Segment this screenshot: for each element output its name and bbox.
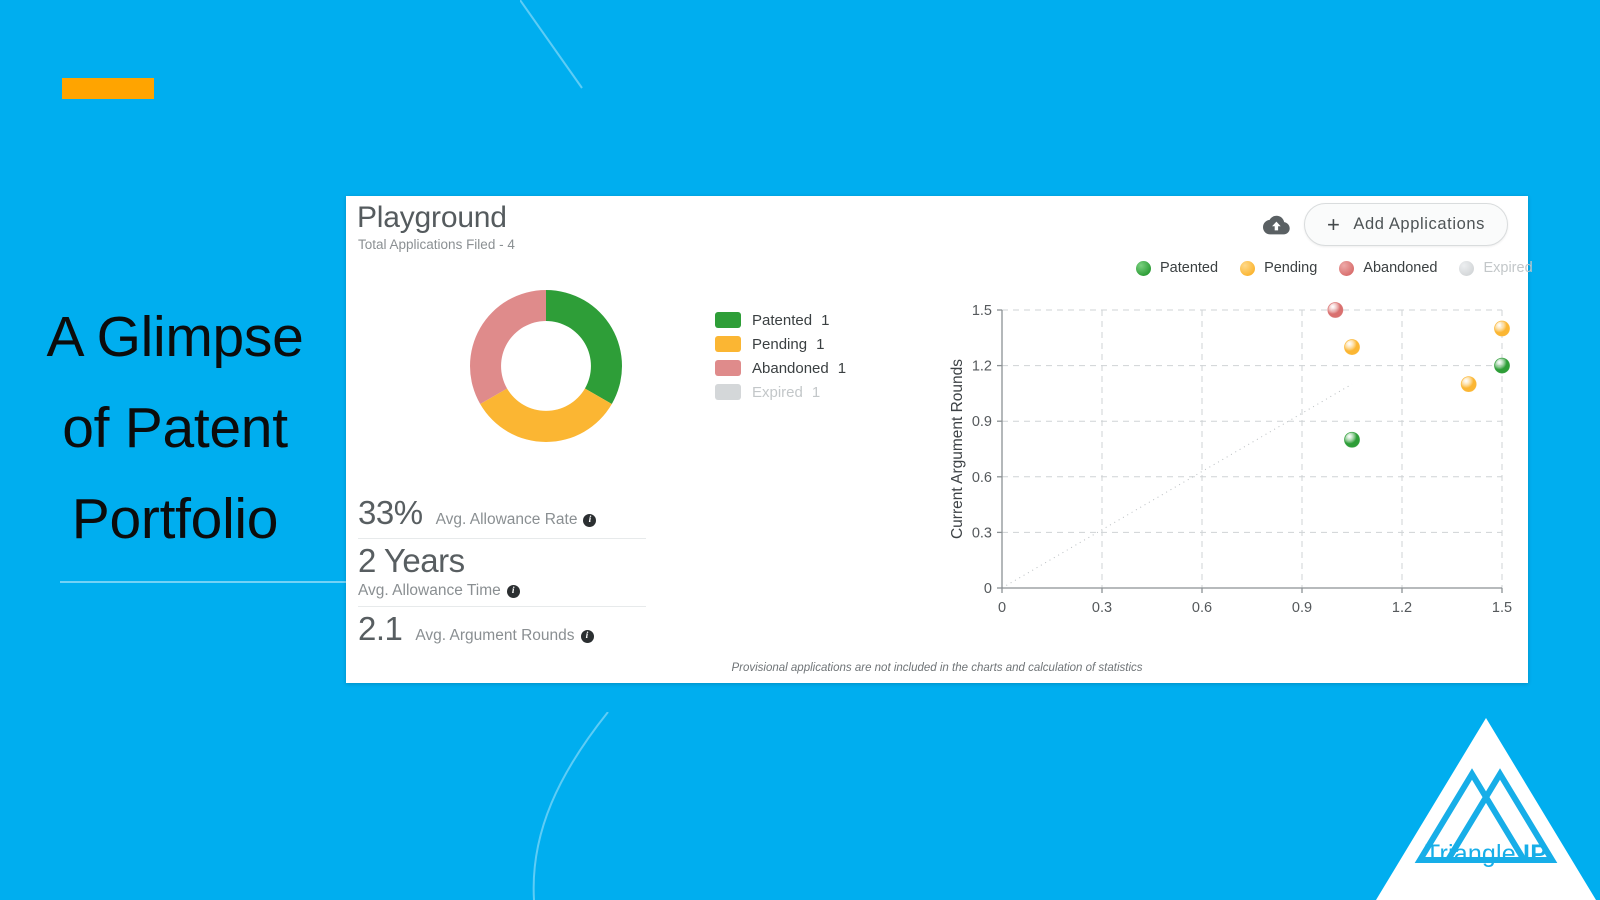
legend-label: Patented (752, 312, 812, 329)
legend-item-abandoned[interactable]: Abandoned 1 (715, 356, 846, 380)
legend-count: 1 (821, 312, 829, 329)
donut-slice-abandoned[interactable] (470, 290, 546, 404)
y-tick-label: 0 (984, 581, 992, 597)
scatter-point-pending (1495, 321, 1510, 336)
statistics-panel: 33% Avg. Allowance Rate i 2 Years Avg. A… (358, 491, 646, 654)
legend-count: 1 (816, 336, 824, 353)
stat-label: Avg. Argument Rounds (415, 627, 574, 645)
legend-swatch-patented (715, 312, 741, 328)
y-axis-title: Current Argument Rounds (949, 359, 966, 539)
scatter-legend: Patented Pending Abandoned Expired (1136, 260, 1555, 276)
stat-argument-rounds: 2.1 Avg. Argument Rounds i (358, 607, 646, 654)
scatter-legend-item-abandoned[interactable]: Abandoned (1339, 260, 1437, 276)
scatter-point-pending (1461, 377, 1476, 392)
stat-label: Avg. Allowance Time (358, 582, 501, 600)
scatter-point-patented (1495, 358, 1510, 373)
legend-swatch-expired (715, 384, 741, 400)
y-tick-label: 1.2 (972, 359, 992, 375)
scatter-svg: 00.30.60.91.21.500.30.60.91.21.5Average … (946, 296, 1516, 626)
info-icon[interactable]: i (581, 630, 594, 643)
x-tick-label: 0.6 (1192, 600, 1212, 616)
scatter-legend-dot-expired (1459, 261, 1474, 276)
scatter-point-pending (1345, 340, 1360, 355)
triangle-ip-logo: Triangle IP (1372, 712, 1600, 900)
stat-value: 33% (358, 494, 423, 532)
decorative-line-top (520, 0, 590, 92)
stat-allowance-rate: 33% Avg. Allowance Rate i (358, 491, 646, 539)
legend-label: Pending (752, 336, 807, 353)
scatter-legend-label: Abandoned (1363, 260, 1437, 276)
y-tick-label: 1.5 (972, 303, 992, 319)
slide-title-line: A Glimpse (0, 292, 350, 383)
donut-slice-patented[interactable] (546, 290, 622, 404)
slide-title-line: of Patent (0, 383, 350, 474)
legend-swatch-abandoned (715, 360, 741, 376)
argument-rounds-scatter-chart[interactable]: 00.30.60.91.21.500.30.60.91.21.5Average … (946, 296, 1516, 626)
scatter-legend-label: Patented (1160, 260, 1218, 276)
legend-item-expired[interactable]: Expired 1 (715, 380, 846, 404)
card-header: Playground Total Applications Filed - 4 … (346, 196, 1528, 258)
scatter-legend-item-patented[interactable]: Patented (1136, 260, 1218, 276)
total-applications-subtitle: Total Applications Filed - 4 (358, 237, 515, 252)
scatter-legend-dot-abandoned (1339, 261, 1354, 276)
scatter-legend-label: Expired (1483, 260, 1532, 276)
info-icon[interactable]: i (507, 585, 520, 598)
x-tick-label: 0.3 (1092, 600, 1112, 616)
legend-count: 1 (812, 384, 820, 401)
stat-value: 2 Years (358, 542, 646, 580)
plus-icon: + (1327, 214, 1340, 236)
legend-item-patented[interactable]: Patented 1 (715, 308, 846, 332)
scatter-legend-item-expired[interactable]: Expired (1459, 260, 1532, 276)
scatter-legend-item-pending[interactable]: Pending (1240, 260, 1317, 276)
chart-footnote: Provisional applications are not include… (346, 662, 1528, 674)
scatter-legend-dot-pending (1240, 261, 1255, 276)
scatter-legend-dot-patented (1136, 261, 1151, 276)
legend-swatch-pending (715, 336, 741, 352)
logo-wordmark: Triangle IP (1372, 840, 1600, 869)
logo-name-light: Triangle (1425, 840, 1523, 868)
scatter-point-patented (1345, 432, 1360, 447)
x-tick-label: 0.9 (1292, 600, 1312, 616)
legend-count: 1 (838, 360, 846, 377)
legend-label: Abandoned (752, 360, 829, 377)
add-applications-label: Add Applications (1353, 215, 1485, 234)
stat-value: 2.1 (358, 610, 402, 648)
x-tick-label: 1.5 (1492, 600, 1512, 616)
add-applications-button[interactable]: + Add Applications (1304, 203, 1508, 246)
stat-label: Avg. Allowance Rate (436, 511, 578, 529)
scatter-legend-label: Pending (1264, 260, 1317, 276)
slide-title-line: Portfolio (0, 474, 350, 565)
y-tick-label: 0.3 (972, 525, 992, 541)
reference-diagonal-line (1002, 384, 1352, 588)
playground-app-card: Playground Total Applications Filed - 4 … (346, 196, 1528, 683)
logo-name-bold: IP (1523, 840, 1547, 868)
donut-slice-pending[interactable] (480, 388, 612, 442)
slide-title: A Glimpse of Patent Portfolio (0, 292, 350, 566)
decorative-curve-bottom (520, 712, 615, 900)
stat-allowance-time: 2 Years Avg. Allowance Time i (358, 539, 646, 607)
legend-label: Expired (752, 384, 803, 401)
info-icon[interactable]: i (583, 514, 596, 527)
page-title: Playground (357, 201, 507, 235)
x-tick-label: 1.2 (1392, 600, 1412, 616)
legend-item-pending[interactable]: Pending 1 (715, 332, 846, 356)
y-tick-label: 0.9 (972, 414, 992, 430)
donut-legend: Patented 1 Pending 1 Abandoned 1 Expired… (715, 308, 846, 404)
title-underline-rule (60, 581, 348, 583)
donut-svg (456, 276, 636, 456)
cloud-upload-icon[interactable] (1262, 213, 1290, 237)
x-tick-label: 0 (998, 600, 1006, 616)
y-tick-label: 0.6 (972, 470, 992, 486)
scatter-point-abandoned (1328, 303, 1343, 318)
status-donut-chart[interactable] (456, 276, 636, 456)
logo-triangle-icon (1372, 712, 1600, 900)
accent-bar (62, 78, 154, 99)
